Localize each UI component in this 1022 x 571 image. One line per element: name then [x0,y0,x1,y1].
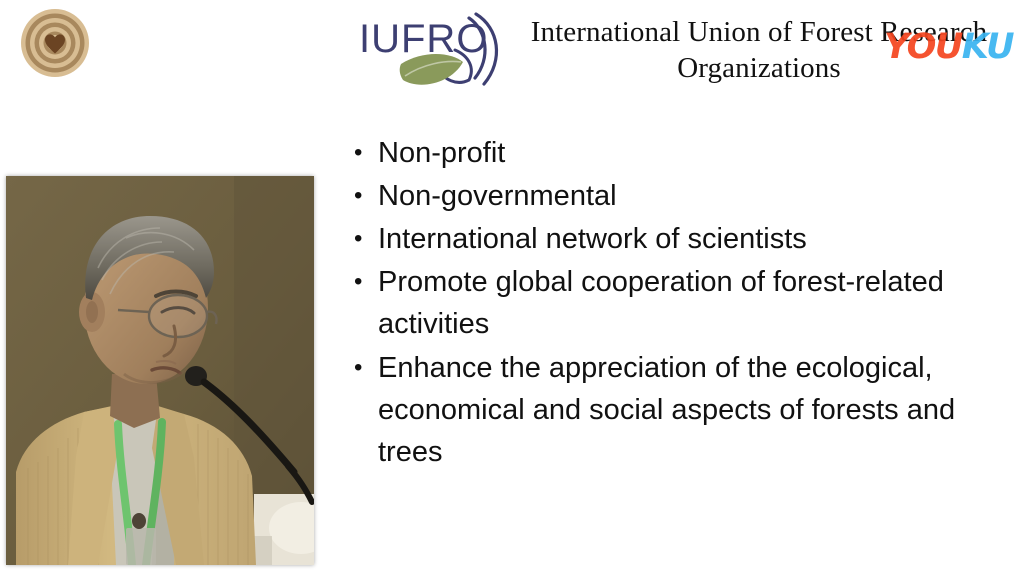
svg-text:IUFRO: IUFRO [359,17,488,61]
list-item: • Non-profit [350,132,1010,174]
list-item-label: Promote global cooperation of forest-rel… [378,261,1010,345]
list-item: • International network of scientists [350,218,1010,260]
list-item: • Non-governmental [350,175,1010,217]
list-item-label: Enhance the appreciation of the ecologic… [378,347,1010,473]
list-item-label: Non-governmental [378,175,1010,217]
list-item-label: Non-profit [378,132,1010,174]
youku-watermark-you: YOU [884,27,962,67]
tree-ring-logo [18,8,92,78]
bullet-icon: • [350,132,378,174]
bullet-icon: • [350,261,378,303]
iufro-logo: IUFRO [357,6,509,98]
list-item: • Enhance the appreciation of the ecolog… [350,347,1010,473]
bullet-icon: • [350,175,378,217]
list-item: • Promote global cooperation of forest-r… [350,261,1010,345]
youku-watermark: YOUKU [884,28,1013,66]
youku-watermark-ku: KU [962,27,1013,67]
bullet-icon: • [350,347,378,389]
list-item-label: International network of scientists [378,218,1010,260]
bullet-icon: • [350,218,378,260]
speaker-photo [6,176,314,565]
presentation-slide: IUFRO International Union of Forest Rese… [0,0,1022,571]
bullet-list: • Non-profit • Non-governmental • Intern… [350,132,1010,475]
